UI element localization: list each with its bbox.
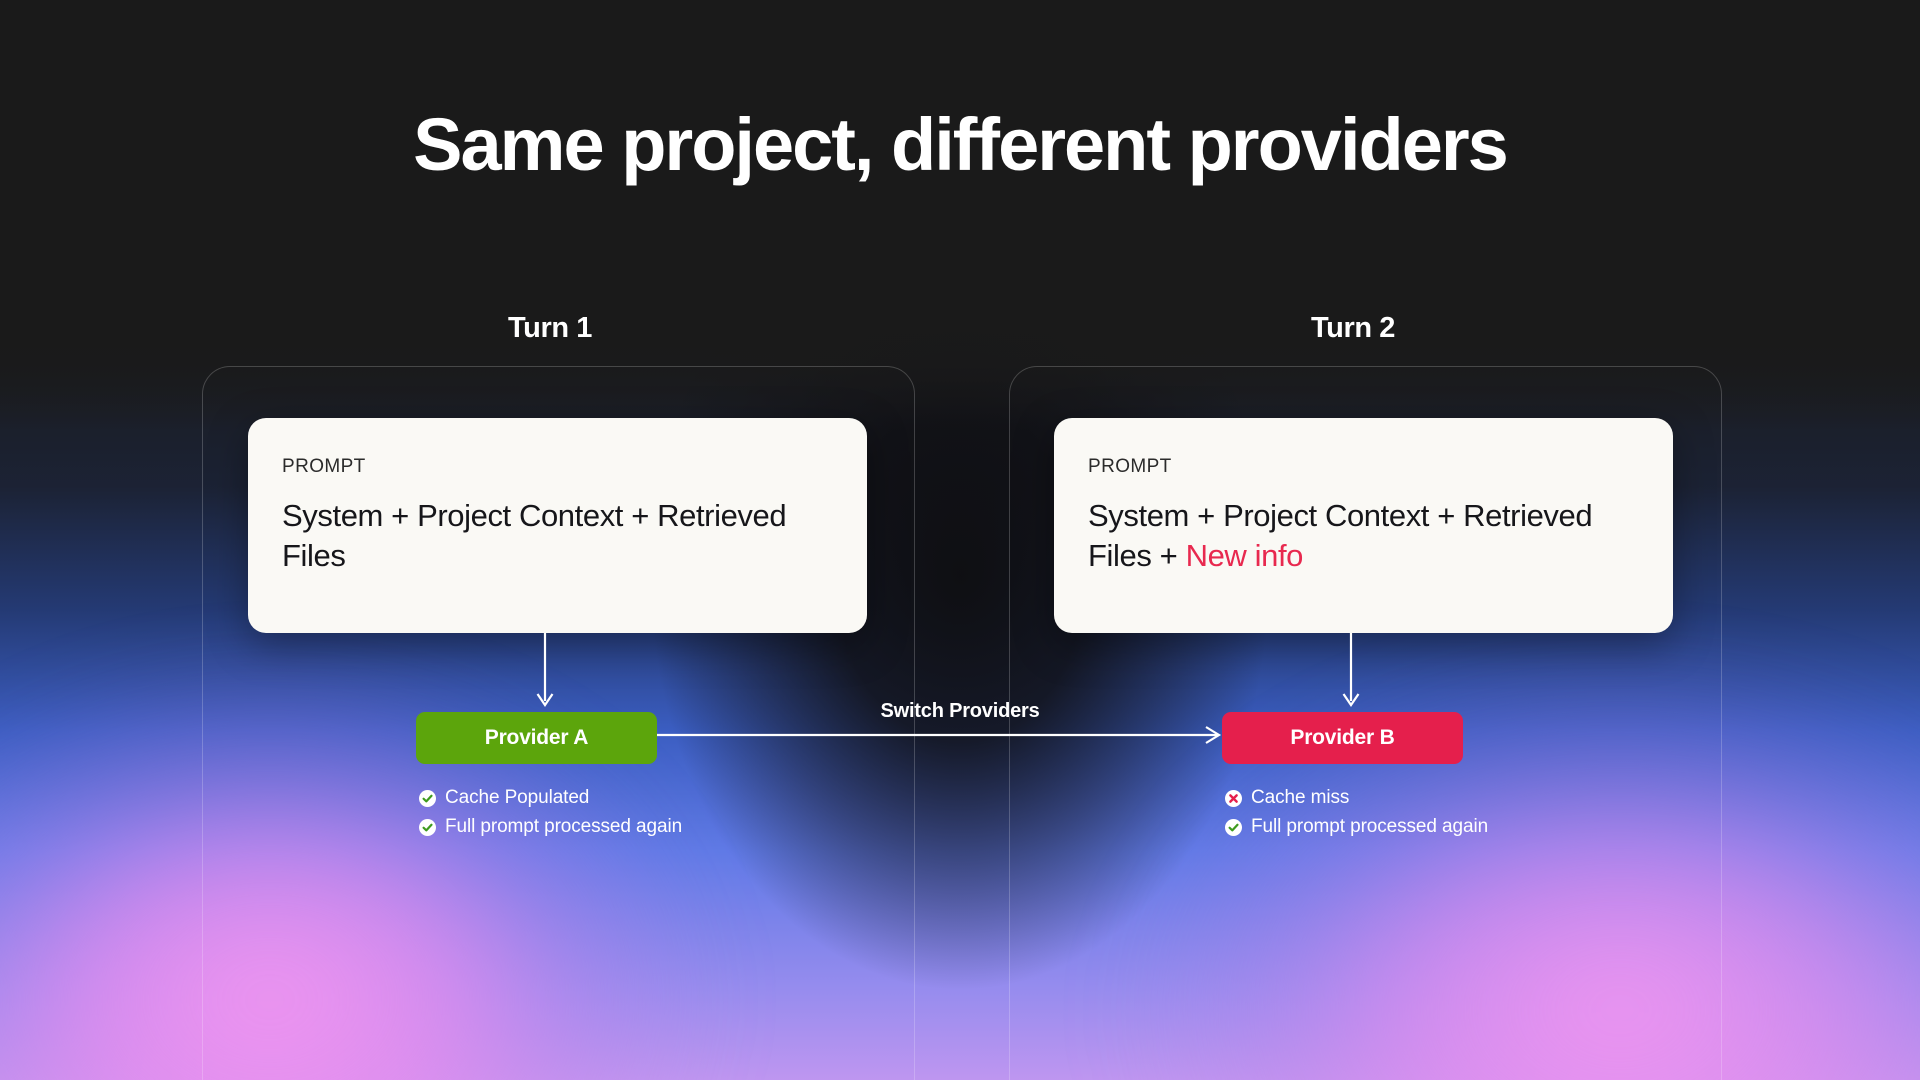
list-item-label: Cache Populated (445, 787, 589, 809)
turn-1-prompt-card: PROMPT System + Project Context + Retrie… (248, 418, 867, 633)
list-item: Full prompt processed again (419, 816, 682, 838)
x-circle-icon (1225, 790, 1242, 807)
turn-2-prompt-kicker: PROMPT (1088, 456, 1639, 478)
turn-1-status-list: Cache Populated Full prompt processed ag… (419, 787, 682, 838)
turn-2-prompt-main: System + Project Context + Retrieved Fil… (1088, 498, 1592, 573)
check-circle-icon (1225, 819, 1242, 836)
turn-2-label: Turn 2 (1203, 312, 1503, 345)
switch-providers-arrow-icon (657, 723, 1227, 752)
page-title: Same project, different providers (0, 108, 1920, 182)
turn-1-prompt-text: System + Project Context + Retrieved Fil… (282, 496, 833, 577)
turn-1-prompt-kicker: PROMPT (282, 456, 833, 478)
check-circle-icon (419, 819, 436, 836)
list-item: Cache miss (1225, 787, 1488, 809)
provider-b-label: Provider B (1290, 726, 1394, 750)
turn-2-prompt-accent: New info (1186, 538, 1303, 573)
list-item-label: Full prompt processed again (1251, 816, 1488, 838)
turn-2-prompt-text: System + Project Context + Retrieved Fil… (1088, 496, 1639, 577)
list-item: Cache Populated (419, 787, 682, 809)
turn-2-status-list: Cache miss Full prompt processed again (1225, 787, 1488, 838)
check-circle-icon (419, 790, 436, 807)
turn-2-prompt-card: PROMPT System + Project Context + Retrie… (1054, 418, 1673, 633)
list-item-label: Cache miss (1251, 787, 1349, 809)
diagram-stage: Same project, different providers Turn 1… (0, 0, 1920, 1080)
turn-2-down-arrow-icon (1340, 633, 1362, 718)
switch-providers-label: Switch Providers (0, 700, 1920, 723)
provider-b-button[interactable]: Provider B (1222, 712, 1463, 764)
list-item-label: Full prompt processed again (445, 816, 682, 838)
list-item: Full prompt processed again (1225, 816, 1488, 838)
turn-1-prompt-main: System + Project Context + Retrieved Fil… (282, 498, 786, 573)
provider-a-label: Provider A (485, 726, 588, 750)
turn-1-label: Turn 1 (400, 312, 700, 345)
